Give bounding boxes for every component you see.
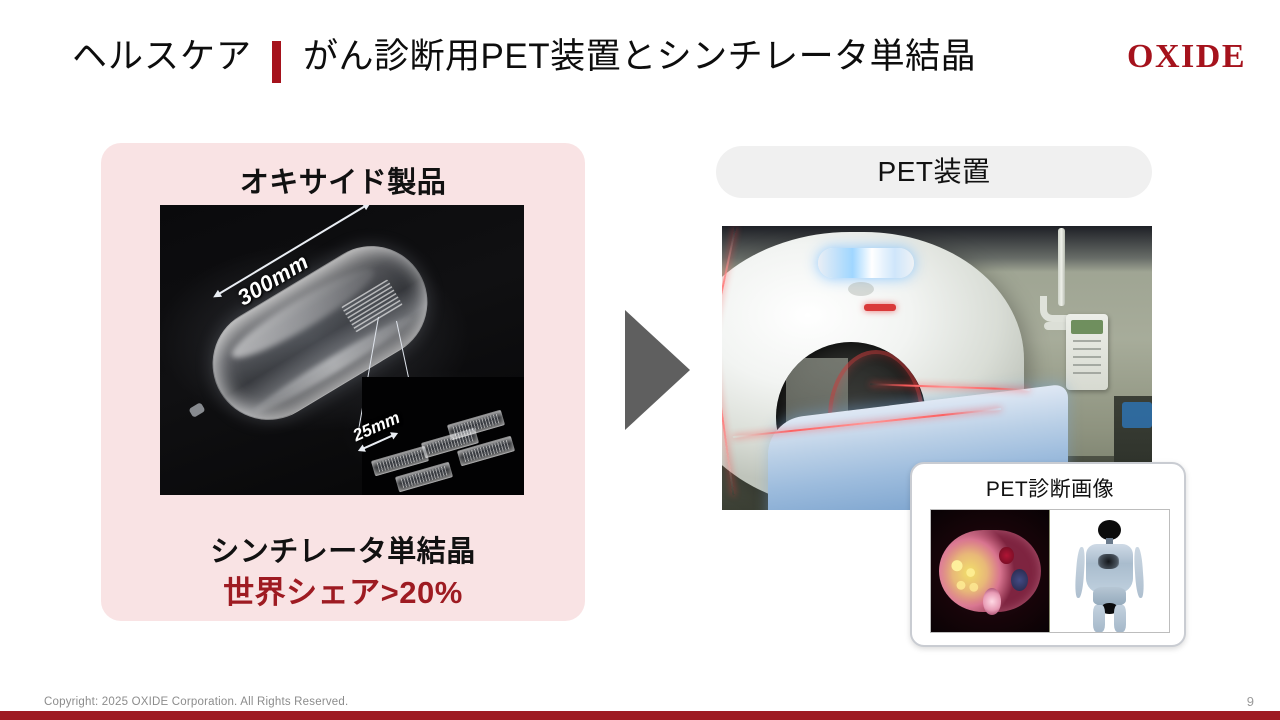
footer-copyright: Copyright: 2025 OXIDE Corporation. All R… — [44, 696, 348, 708]
gantry-red-led — [864, 304, 896, 311]
monitor-screen — [1071, 320, 1103, 334]
pet-diagnostic-image-card: PET診断画像 — [910, 462, 1186, 647]
pet-device-pill-label: PET装置 — [716, 146, 1152, 198]
axial-liver-uptake — [945, 551, 985, 600]
pet-diagnostic-images — [930, 509, 1170, 633]
product-caption-name: シンチレータ単結晶 — [101, 528, 585, 570]
whole-body-pet-mip-image — [1050, 510, 1169, 632]
footer-accent-bar — [0, 711, 1280, 720]
header-divider-bar — [272, 41, 281, 83]
gantry-emblem — [848, 282, 874, 296]
body-leg — [1093, 605, 1105, 632]
body-leg — [1114, 605, 1126, 632]
pet-diagnostic-card-title: PET診断画像 — [912, 473, 1188, 503]
ceiling-pipe — [1058, 228, 1065, 306]
axial-pet-ct-fusion-image — [931, 510, 1050, 632]
monitor-control-keys — [1073, 340, 1101, 380]
wall-mounted-monitor — [1066, 314, 1108, 390]
pet-device-pill: PET装置 — [716, 146, 1152, 198]
gantry-indicator-light — [818, 248, 914, 278]
slide-header: ヘルスケア がん診断用PET装置とシンチレータ単結晶 OXIDE — [0, 28, 1280, 90]
axial-organ-marker — [999, 547, 1013, 564]
footer-page-number: 9 — [1247, 694, 1254, 709]
slide-root: ヘルスケア がん診断用PET装置とシンチレータ単結晶 OXIDE オキサイド製品 — [0, 0, 1280, 720]
scintillator-crystal-photo: 300mm 25mm — [160, 205, 524, 495]
side-cart-blue-item — [1122, 402, 1152, 428]
body-arm — [1133, 546, 1145, 598]
flow-arrow-right-icon — [625, 310, 690, 430]
page-title: がん診断用PET装置とシンチレータ単結晶 — [303, 28, 976, 86]
oxide-logo: OXIDE — [1127, 34, 1246, 80]
header-category-label: ヘルスケア — [72, 28, 252, 86]
axial-organ-marker — [1011, 569, 1028, 591]
body-torso-uptake — [1098, 554, 1119, 569]
body-arm — [1074, 546, 1086, 598]
axial-spine — [983, 588, 1001, 615]
oxide-product-panel-title: オキサイド製品 — [101, 159, 585, 201]
oxide-product-panel: オキサイド製品 300mm — [101, 143, 585, 621]
product-caption-market-share: 世界シェア>20% — [101, 567, 585, 612]
body-torso — [1086, 544, 1134, 593]
